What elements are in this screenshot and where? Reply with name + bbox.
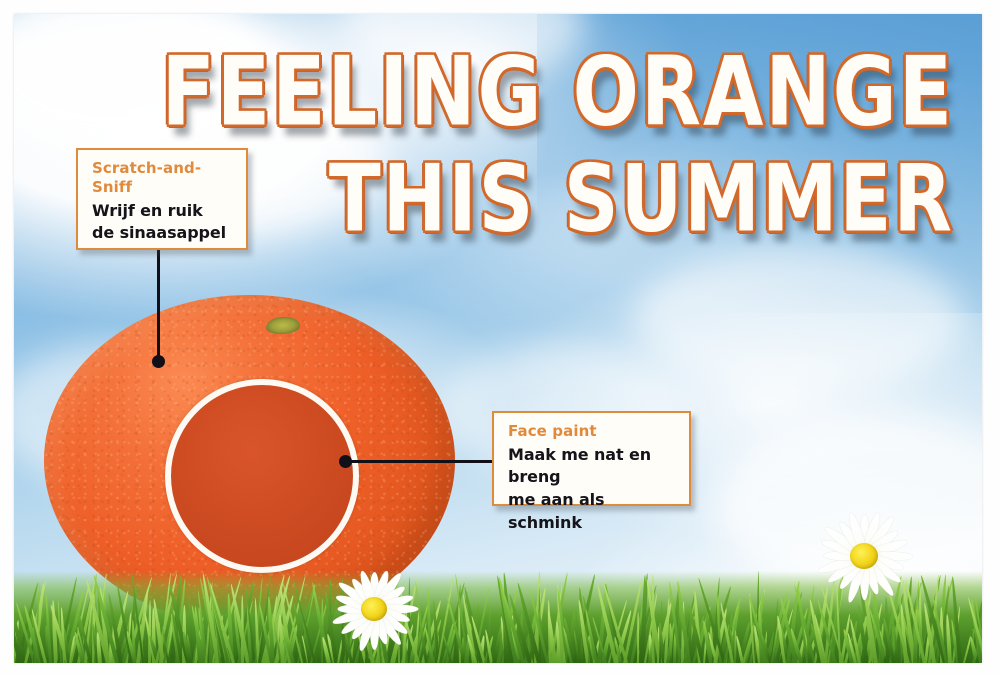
callout-scratch-and-sniff[interactable]: Scratch-and-Sniff Wrijf en ruik de sinaa… bbox=[76, 148, 248, 250]
daisy-flower-icon bbox=[324, 559, 424, 659]
callout-face-paint[interactable]: Face paint Maak me nat en breng me aan a… bbox=[492, 411, 691, 506]
cloud-icon bbox=[634, 244, 964, 394]
leader-line-face-paint bbox=[346, 460, 498, 463]
callout-body-line-2: de sinaasappel bbox=[92, 222, 233, 245]
daisy-flower-icon bbox=[809, 501, 919, 611]
callout-anchor-dot-icon bbox=[152, 355, 165, 368]
callout-title: Face paint bbox=[508, 422, 676, 441]
callout-title: Scratch-and-Sniff bbox=[92, 159, 233, 197]
poster-root: FEELING ORANGE THIS SUMMER bbox=[0, 0, 1000, 675]
daisy-core bbox=[850, 543, 878, 569]
callout-anchor-dot-icon bbox=[339, 455, 352, 468]
callout-body-line-1: Wrijf en ruik bbox=[92, 200, 233, 223]
daisy-core bbox=[361, 597, 387, 621]
callout-body-line-1: Maak me nat en breng bbox=[508, 444, 676, 489]
callout-body-line-2: me aan als schmink bbox=[508, 489, 676, 534]
leader-line-scratch-and-sniff bbox=[157, 250, 160, 366]
photo-plate: FEELING ORANGE THIS SUMMER bbox=[14, 14, 982, 663]
